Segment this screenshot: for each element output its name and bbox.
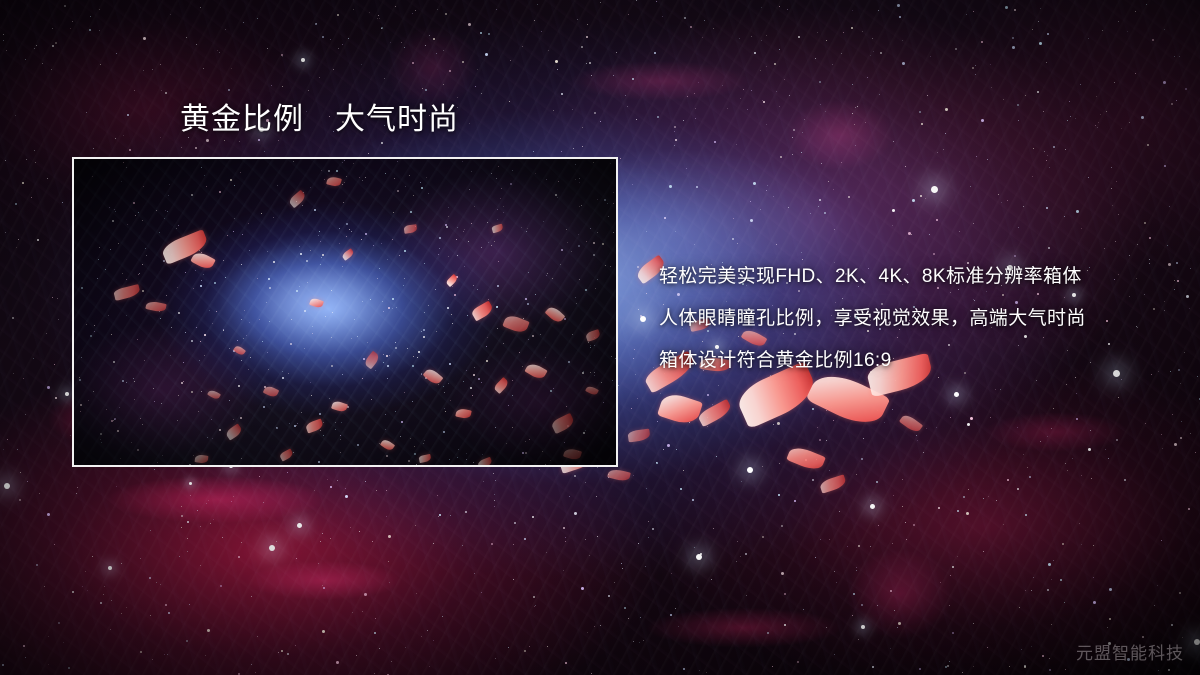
petal [477, 457, 493, 467]
petal [288, 190, 307, 209]
petal [305, 418, 324, 433]
petal [819, 474, 847, 493]
media-preview-panel[interactable] [72, 157, 618, 467]
panel-wisp-texture [74, 159, 616, 465]
petal [423, 367, 444, 387]
petal [585, 385, 599, 397]
presentation-slide: 黄金比例 大气时尚 轻松完美实现FHD、2K、4K、8K标准分辨率箱体 人体眼睛… [0, 0, 1200, 675]
petal [524, 361, 547, 381]
petal [279, 448, 294, 461]
petal [455, 408, 472, 420]
petal [418, 454, 431, 463]
petal [233, 344, 246, 356]
petal [502, 313, 529, 335]
body-line: 人体眼睛瞳孔比例，享受视觉效果，高端大气时尚 [659, 298, 1164, 340]
petal [263, 384, 280, 398]
page-title: 黄金比例 大气时尚 [180, 103, 459, 136]
petal [225, 423, 244, 440]
watermark: 元盟智能科技 [1076, 639, 1184, 664]
petal [627, 429, 650, 443]
petal [190, 250, 216, 272]
petal [341, 248, 355, 261]
petal [470, 301, 494, 322]
petal [309, 297, 324, 309]
petal [545, 304, 566, 324]
petal [380, 438, 395, 452]
body-line: 箱体设计符合黄金比例16:9 [659, 340, 1164, 382]
petal [563, 447, 582, 461]
petal [326, 175, 342, 187]
petal [160, 229, 210, 265]
petal [207, 388, 221, 400]
petal [899, 413, 923, 435]
petal [786, 444, 826, 473]
petal [491, 224, 504, 234]
body-line: 轻松完美实现FHD、2K、4K、8K标准分辨率箱体 [659, 256, 1164, 298]
petal [493, 377, 510, 394]
petal [195, 454, 209, 464]
petal [550, 413, 575, 434]
petal [331, 400, 348, 413]
panel-nebula-image [74, 159, 616, 465]
petal [445, 274, 458, 287]
petal [585, 329, 601, 342]
petal [607, 467, 631, 482]
petal [145, 300, 166, 313]
panel-starfield [74, 159, 616, 465]
panel-petal-field [74, 159, 616, 465]
body-text-block: 轻松完美实现FHD、2K、4K、8K标准分辨率箱体 人体眼睛瞳孔比例，享受视觉效… [659, 256, 1164, 382]
petal [697, 399, 734, 427]
petal [363, 351, 381, 370]
petal [113, 284, 141, 301]
petal [657, 390, 703, 427]
petal [404, 224, 418, 234]
panel-vignette [74, 159, 616, 465]
